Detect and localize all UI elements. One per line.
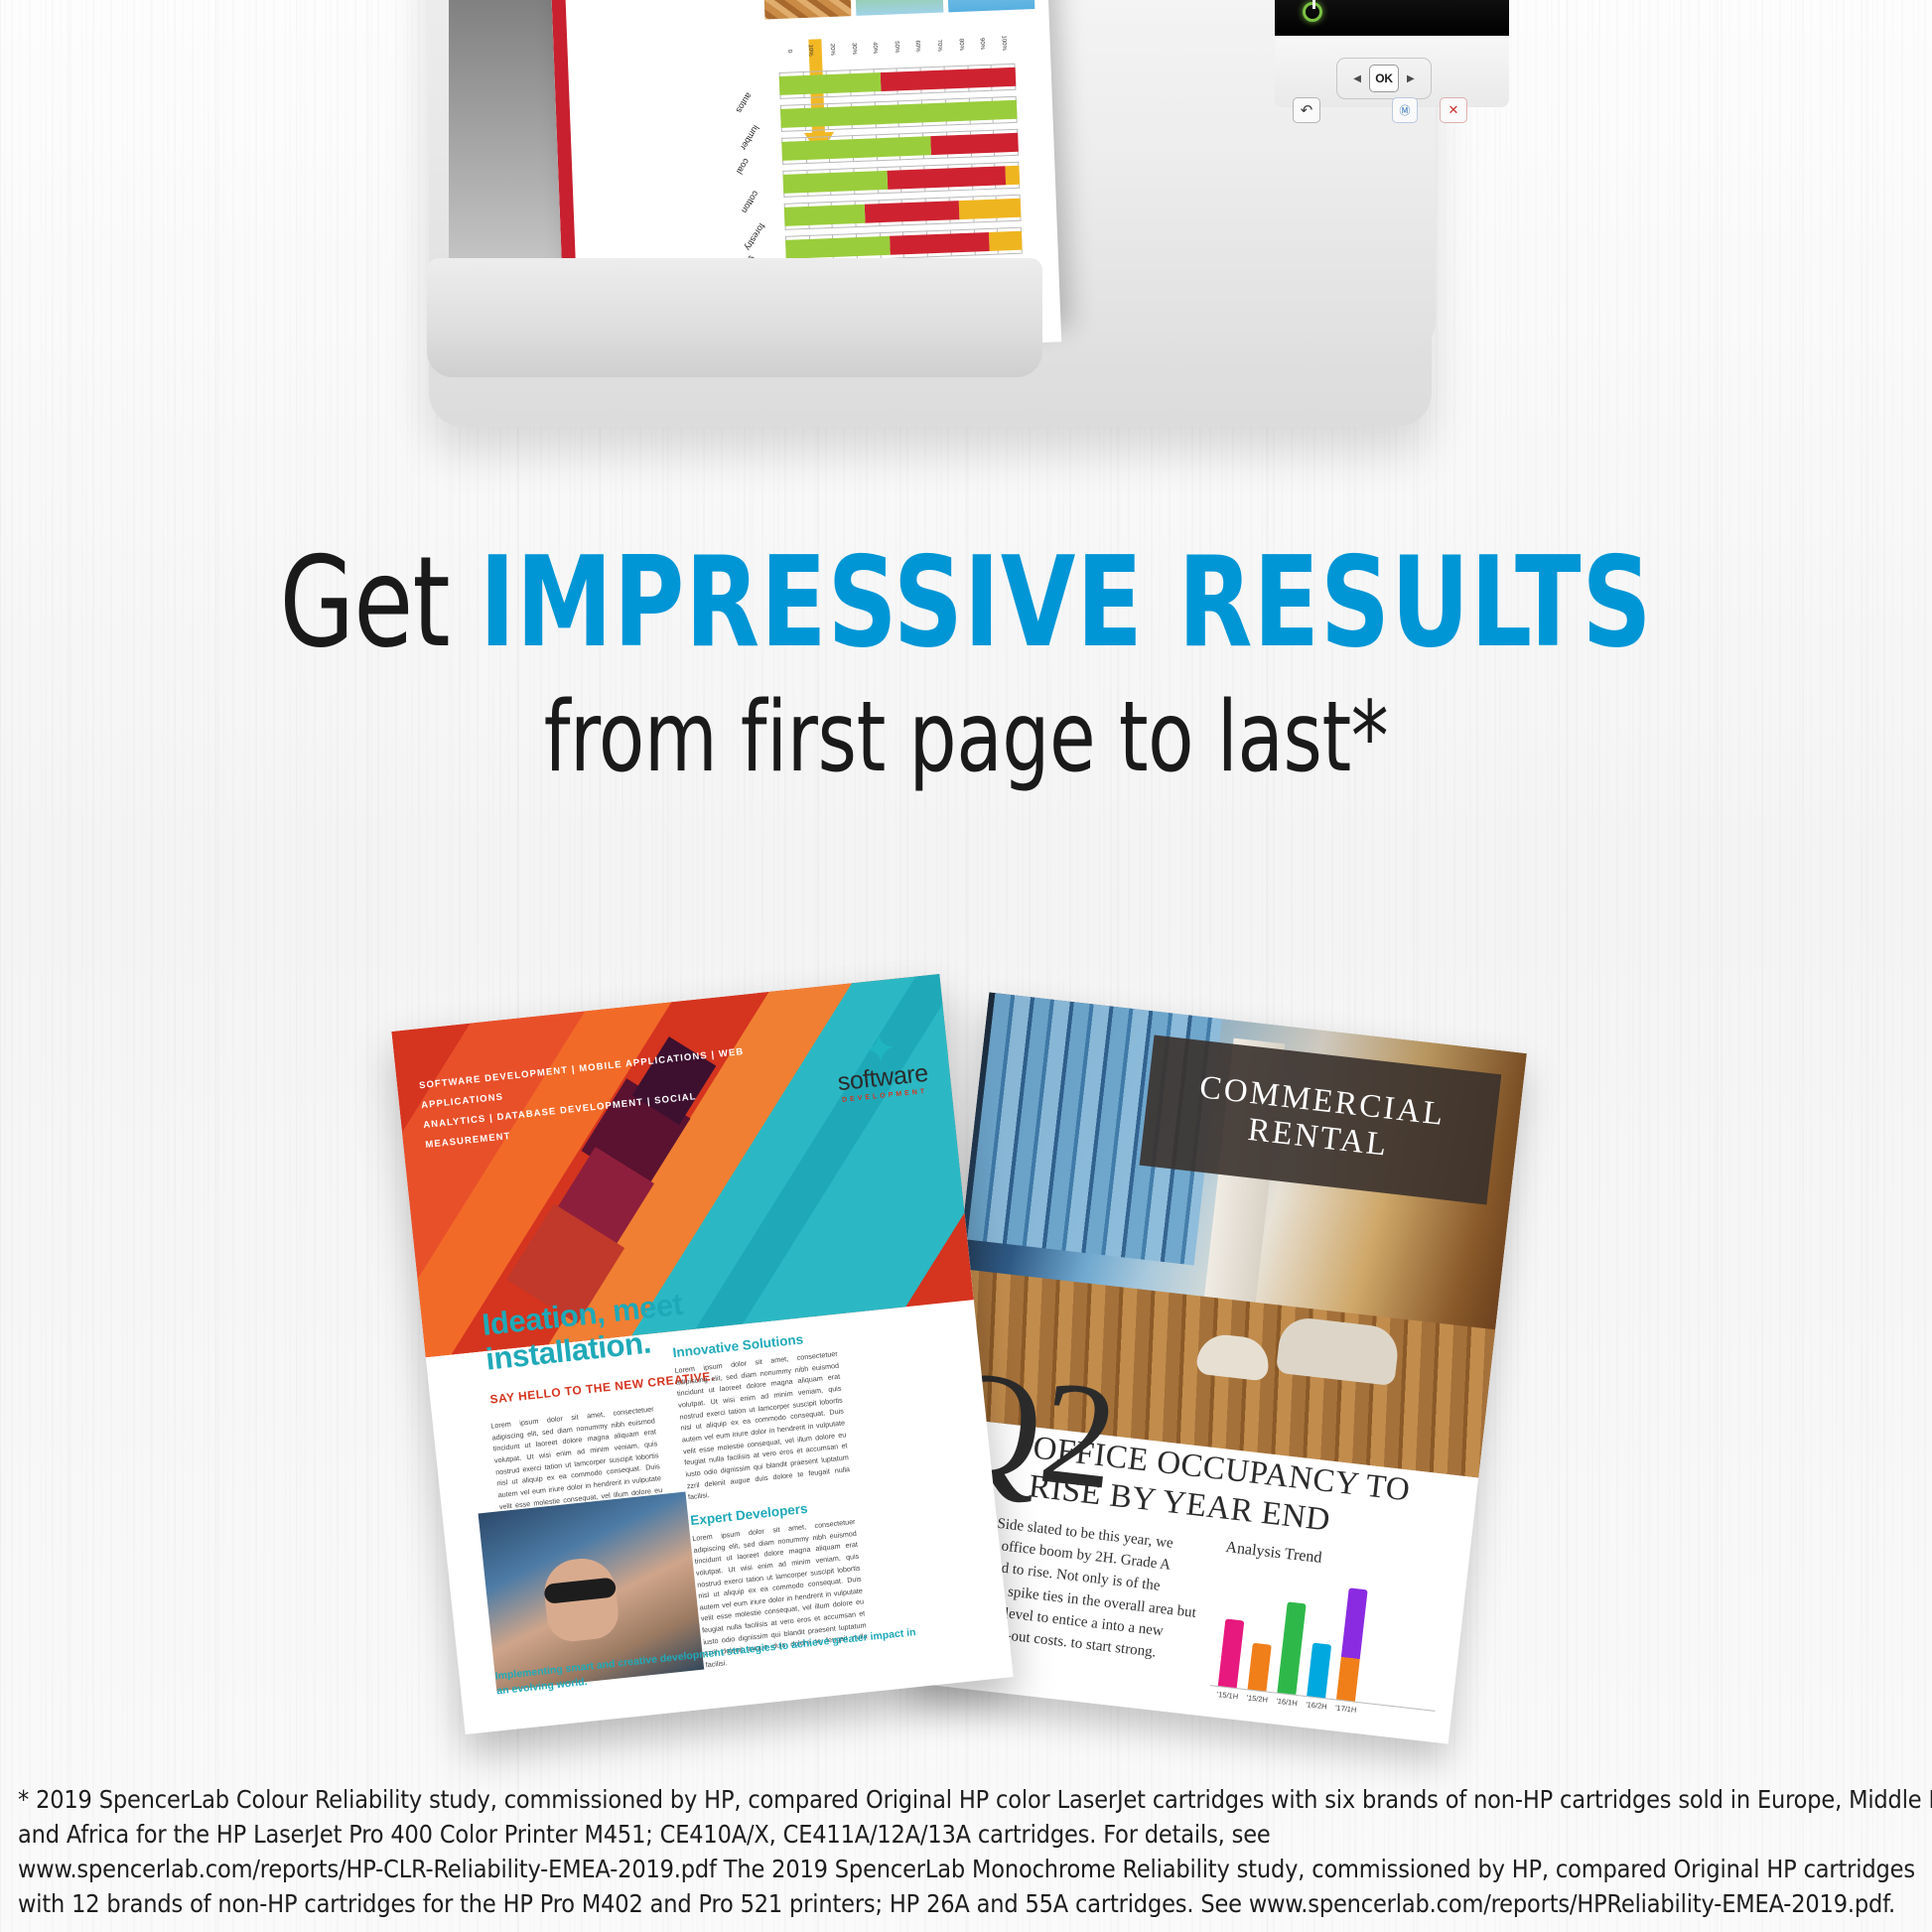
control-panel-buttons: ◀ OK ▶ ↶ Ⓜ ✕	[1275, 36, 1509, 107]
wheat-photo	[944, 0, 1035, 12]
chart-segment-red	[930, 133, 1019, 155]
innovative-solutions-column: Innovative Solutions Lorem ipsum dolor s…	[672, 1328, 870, 1671]
lumber-photo	[761, 0, 852, 19]
analysis-bar	[1336, 1587, 1368, 1702]
chart-tick-label: 70%	[936, 35, 943, 57]
chart-segment-green	[779, 72, 882, 95]
chart-segment-green	[785, 236, 890, 259]
chart-bar-row: forestry	[784, 195, 1022, 230]
advertisement-page: FREIGHT MODES F NSW ANNUAL PERCENTAGES F…	[0, 0, 1932, 1932]
chart-tick-label: 20%	[828, 39, 835, 61]
chart-bar-row: autos	[779, 64, 1017, 99]
chart-segment-yellow	[1005, 166, 1020, 186]
chart-segment-red	[865, 201, 960, 223]
printer-tray-lip	[427, 258, 1042, 377]
analysis-x-label: '17/1H	[1335, 1704, 1355, 1715]
software-logo: ✦ software DEVELOPMENT	[833, 1032, 929, 1104]
chart-tick-label: 100%	[1000, 32, 1007, 54]
printer-control-panel[interactable]: Ready ◀ OK ▶ ↶ Ⓜ ✕	[1267, 0, 1517, 104]
cancel-button[interactable]: ✕	[1440, 97, 1467, 123]
navigation-pad[interactable]: ◀ OK ▶	[1336, 58, 1432, 99]
analysis-trend-chart	[1210, 1562, 1449, 1712]
back-button[interactable]: ↶	[1293, 97, 1320, 123]
legal-footnote: * 2019 SpencerLab Colour Reliability stu…	[18, 1782, 1920, 1921]
chart-bar-row: cotton	[782, 162, 1020, 198]
sheep-photo	[853, 0, 943, 16]
chart-tick-label: 60%	[914, 36, 921, 58]
chart-tick-label: 10%	[807, 40, 814, 62]
left-arrow-icon[interactable]: ◀	[1353, 73, 1361, 84]
section-1-body: Lorem ipsum dolor sit amet, consectetuer…	[674, 1348, 852, 1503]
main-headline: Get IMPRESSIVE RESULTS	[135, 536, 1797, 669]
analysis-trend-block: Analysis Trend '15/1H'15/2H'16/1H'16/2H'…	[1207, 1539, 1453, 1732]
chart-tick-label: 80%	[957, 34, 964, 56]
brochure-group: COMMERCIAL RENTAL Q2 OFFICE OCCUPANCY TO…	[0, 1013, 1932, 1767]
footnote-line-3: www.spencerlab.com/reports/HP-CLR-Reliab…	[18, 1852, 1920, 1886]
headline-lead: Get	[280, 529, 450, 675]
analysis-bar	[1248, 1642, 1272, 1691]
chart-tick-label: 0	[785, 41, 792, 63]
footnote-line-2: and Africa for the HP LaserJet Pro 400 C…	[18, 1817, 1920, 1852]
chart-segment-green	[784, 205, 866, 226]
chart-tick-label: 50%	[893, 36, 899, 58]
footnote-line-4: with 12 brands of non-HP cartridges for …	[18, 1886, 1920, 1921]
printer-scene: FREIGHT MODES F NSW ANNUAL PERCENTAGES F…	[0, 0, 1932, 477]
analysis-x-label: '15/2H	[1246, 1693, 1266, 1704]
chart-segment-red	[890, 232, 990, 255]
chart-bar-row: coal	[781, 129, 1019, 165]
analysis-bar	[1307, 1642, 1331, 1698]
analysis-bar	[1277, 1601, 1306, 1695]
chart-tick-label: 90%	[979, 33, 986, 55]
headline-emphasis: IMPRESSIVE RESULTS	[480, 529, 1653, 675]
chart-segment-yellow	[989, 231, 1023, 251]
page-photos	[761, 0, 1035, 19]
chart-tick-label: 40%	[872, 37, 879, 59]
chart-segment-green	[783, 171, 888, 194]
analysis-bar	[1218, 1618, 1245, 1688]
software-development-brochure: SOFTWARE DEVELOPMENT | MOBILE APPLICATIO…	[391, 974, 1013, 1734]
sub-headline: from first page to last*	[135, 687, 1797, 789]
power-led-icon	[1303, 2, 1322, 22]
chart-tick-label: 30%	[850, 38, 857, 60]
headline-block: Get IMPRESSIVE RESULTS from first page t…	[0, 536, 1932, 788]
analysis-x-label: '16/1H	[1276, 1697, 1296, 1708]
menu-button[interactable]: Ⓜ	[1392, 97, 1418, 123]
analysis-x-label: '16/2H	[1306, 1700, 1325, 1711]
ok-button[interactable]: OK	[1369, 65, 1399, 92]
chart-bar-row: lumber	[780, 96, 1018, 132]
footnote-line-1: * 2019 SpencerLab Colour Reliability stu…	[18, 1782, 1920, 1817]
analysis-x-label: '15/1H	[1216, 1690, 1236, 1701]
chart-segment-yellow	[959, 199, 1022, 219]
right-arrow-icon[interactable]: ▶	[1407, 73, 1415, 84]
